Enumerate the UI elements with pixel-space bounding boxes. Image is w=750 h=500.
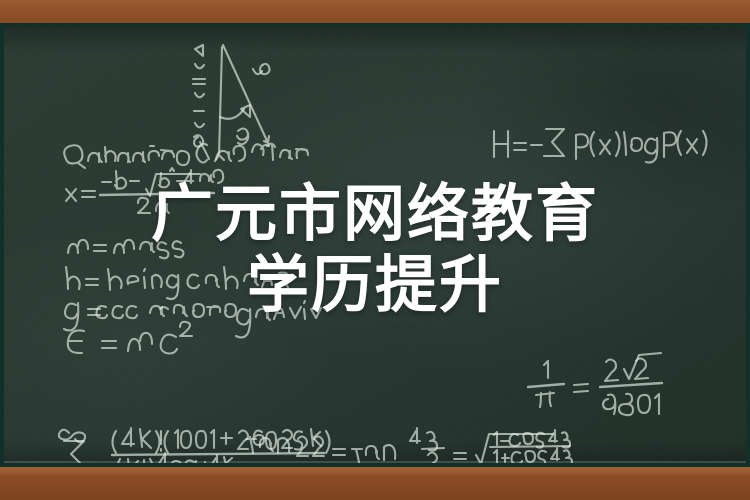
banner-title: 广元市网络教育 学历提升 — [0, 0, 750, 500]
title-line-2: 学历提升 — [247, 251, 503, 320]
banner-image: 广元市网络教育 学历提升 — [0, 0, 750, 500]
title-line-1: 广元市网络教育 — [151, 180, 599, 249]
